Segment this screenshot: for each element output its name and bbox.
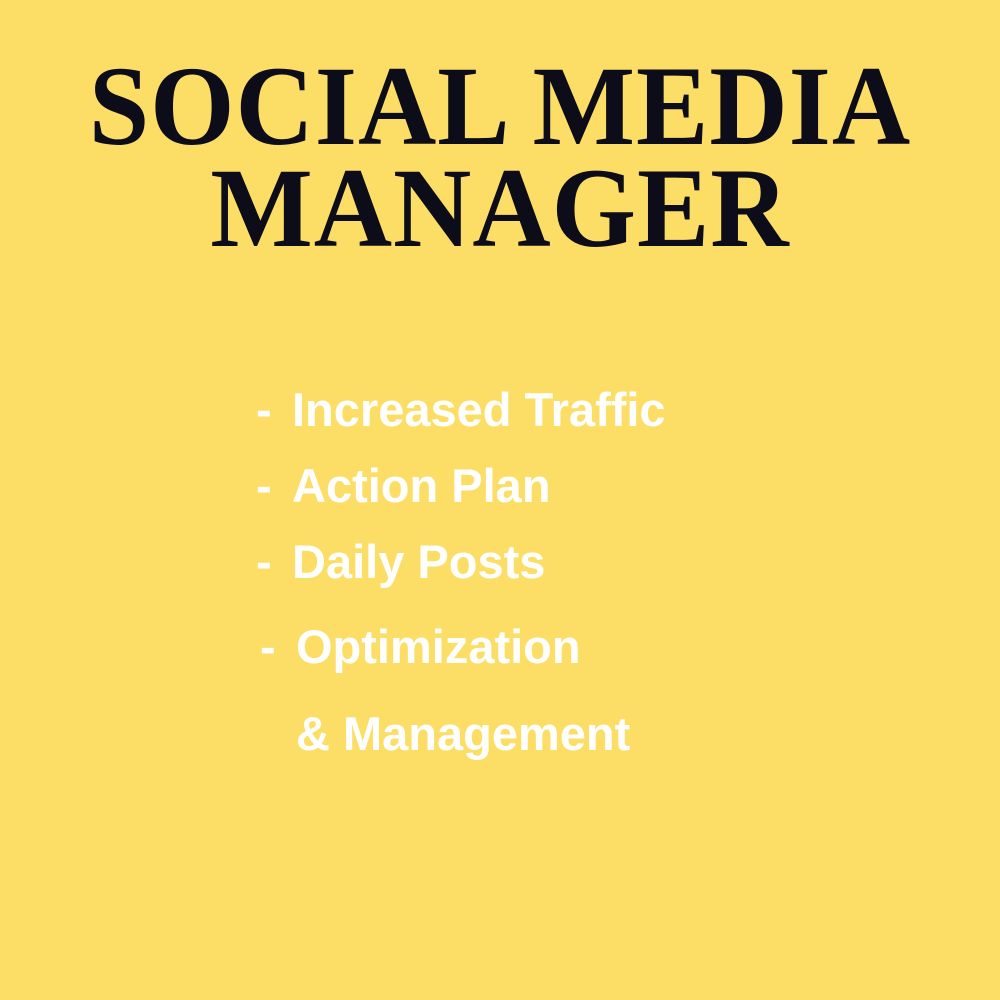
list-item-label: Daily Posts: [292, 524, 545, 600]
bullet-dash-icon: -: [256, 372, 292, 448]
list-item: - Optimization: [256, 609, 976, 685]
poster-title: SOCIAL MEDIA MANAGER: [0, 56, 1000, 260]
list-item-label: Increased Traffic: [292, 372, 666, 448]
bullet-dash-icon: -: [260, 609, 296, 685]
bullet-dash-icon: -: [256, 448, 292, 524]
list-item-label: Action Plan: [292, 448, 551, 524]
list-item: - Daily Posts: [256, 524, 976, 600]
bullet-dash-icon: -: [256, 524, 292, 600]
title-line-2: MANAGER: [20, 158, 980, 260]
services-list: - Increased Traffic - Action Plan - Dail…: [256, 372, 976, 772]
social-media-manager-poster: SOCIAL MEDIA MANAGER - Increased Traffic…: [0, 0, 1000, 1000]
list-item: - Action Plan: [256, 448, 976, 524]
list-item-continuation: & Management: [256, 696, 976, 772]
list-item: - Increased Traffic: [256, 372, 976, 448]
list-item-label: Optimization: [296, 609, 581, 685]
title-line-1: SOCIAL MEDIA: [20, 56, 980, 158]
